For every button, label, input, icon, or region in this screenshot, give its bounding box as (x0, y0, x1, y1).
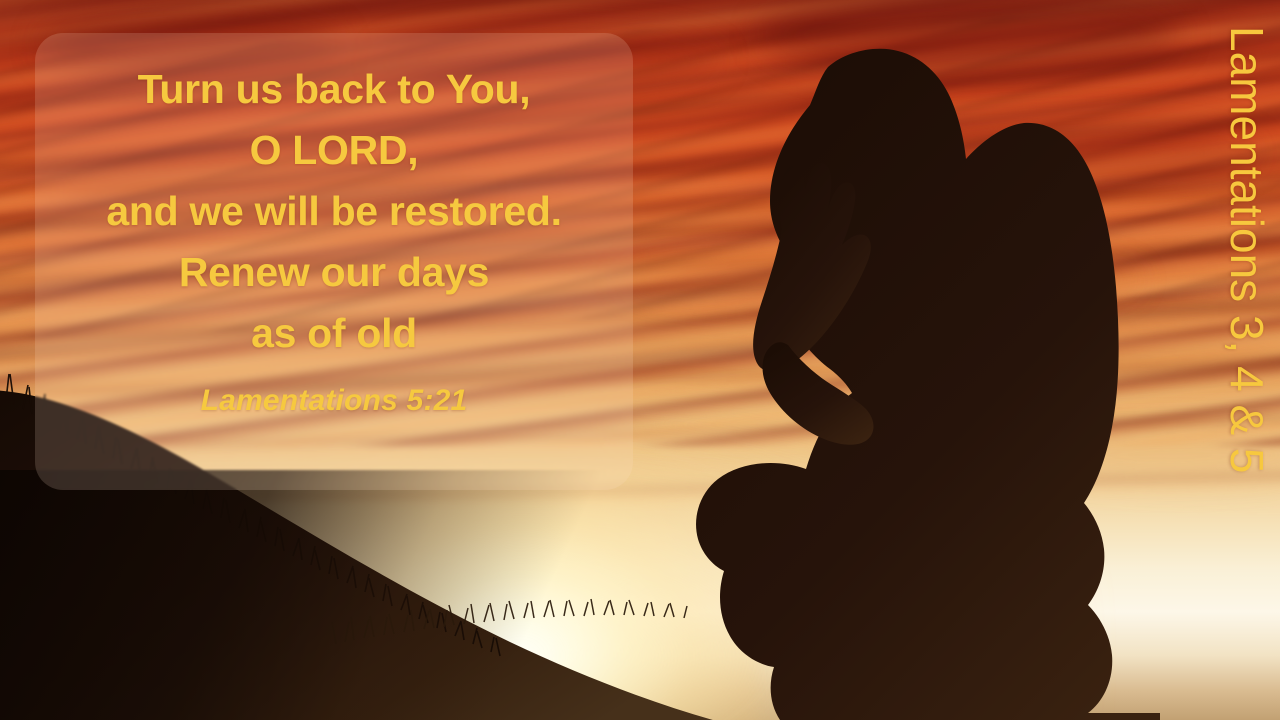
side-title-container: Lamentations 3, 4 & 5 (1196, 30, 1262, 560)
scripture-reference: Lamentations 5:21 (201, 384, 468, 418)
quote-line-3: and we will be restored. (106, 181, 561, 242)
scripture-image-canvas: Turn us back to You, O LORD, and we will… (0, 0, 1280, 720)
kneeling-praying-man-silhouette (660, 45, 1160, 720)
quote-block: Turn us back to You, O LORD, and we will… (35, 33, 633, 490)
quote-line-2: O LORD, (250, 120, 419, 181)
quote-line-5: as of old (251, 303, 417, 364)
side-title-text: Lamentations 3, 4 & 5 (1224, 26, 1270, 536)
foreground-shadow (0, 470, 620, 720)
quote-line-4: Renew our days (179, 242, 489, 303)
quote-line-1: Turn us back to You, (138, 59, 531, 120)
